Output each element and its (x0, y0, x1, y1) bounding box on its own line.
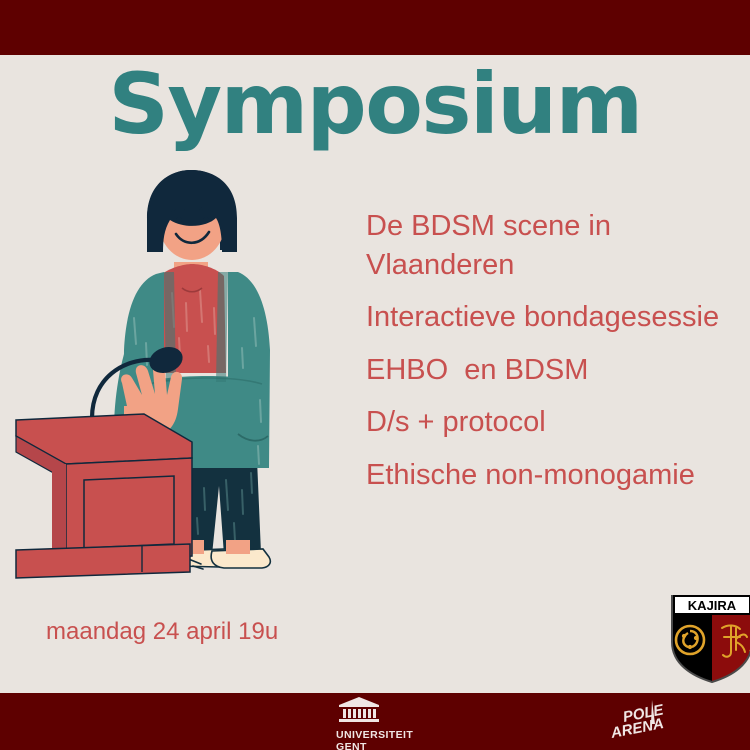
topic-item: D/s + protocol (366, 403, 726, 442)
topics-list: De BDSM scene in Vlaanderen Interactieve… (366, 207, 726, 494)
topic-item: EHBO en BDSM (366, 351, 726, 390)
ugent-label: UNIVERSITEIT GENT (336, 729, 426, 750)
woman-speaking-at-podium-illustration (14, 168, 284, 588)
event-date: maandag 24 april 19u (46, 618, 278, 646)
topic-item: Interactieve bondagesessie (366, 298, 726, 337)
topic-item: Ethische non-monogamie (366, 456, 726, 495)
kajira-banner-text: KAJIRA (688, 598, 737, 613)
pole-arena-line2: ARENA (609, 715, 666, 742)
topic-item: De BDSM scene in Vlaanderen (366, 207, 726, 284)
page-title: Symposium (0, 62, 750, 146)
symposium-poster: Symposium (0, 0, 750, 750)
head-shape (147, 170, 237, 260)
kajira-shield-logo: KAJIRA (666, 590, 750, 686)
universiteit-gent-logo: UNIVERSITEIT GENT (336, 696, 426, 748)
podium-shape (16, 414, 192, 578)
ugent-building-icon (336, 696, 382, 722)
top-accent-bar (0, 0, 750, 55)
pole-arena-logo: POLE ARENA (608, 700, 686, 744)
